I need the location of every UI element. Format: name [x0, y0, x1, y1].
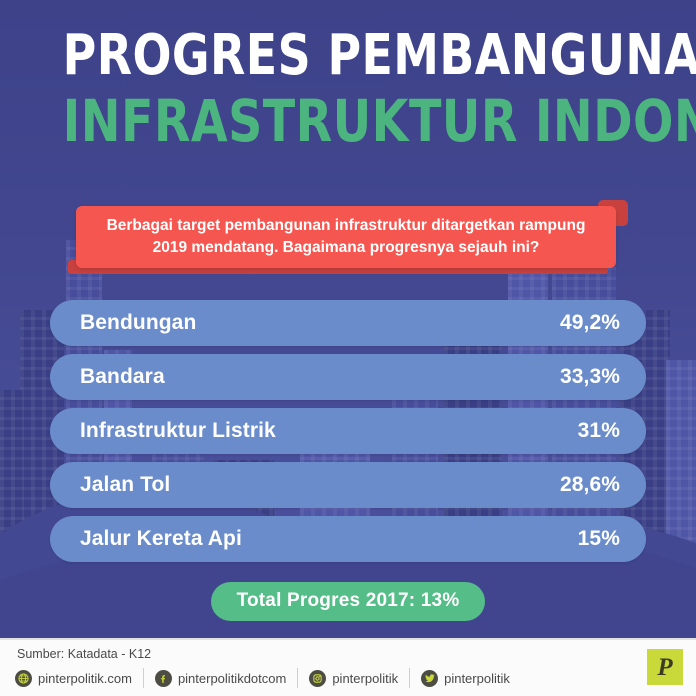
footer-divider [409, 668, 410, 688]
globe-icon [15, 670, 32, 687]
title-line-primary: PROGRES PEMBANGUNAN [63, 28, 634, 84]
social-label: pinterpolitik [332, 671, 398, 686]
brand-logo-letter: P [657, 655, 672, 680]
title-line-secondary: INFRASTRUKTUR INDONESIA [63, 92, 634, 150]
social-link-website[interactable]: pinterpolitik.com [15, 666, 132, 690]
table-row: Jalur Kereta Api 15% [50, 516, 646, 562]
table-row: Jalan Tol 28,6% [50, 462, 646, 508]
row-label: Bandara [80, 365, 165, 389]
row-value: 33,3% [560, 365, 620, 389]
row-value: 15% [578, 527, 620, 551]
source-text: Sumber: Katadata - K12 [17, 647, 151, 661]
twitter-icon [421, 670, 438, 687]
banner-text: Berbagai target pembangunan infrastruktu… [76, 215, 616, 260]
social-link-twitter[interactable]: pinterpolitik [421, 666, 510, 690]
footer-bar: Sumber: Katadata - K12 pinterpolitik.com [0, 638, 696, 696]
total-progress-container: Total Progres 2017: 13% [0, 582, 696, 621]
social-label: pinterpolitik.com [38, 671, 132, 686]
row-label: Jalur Kereta Api [80, 527, 242, 551]
banner-body: Berbagai target pembangunan infrastruktu… [76, 206, 616, 268]
total-progress-badge: Total Progres 2017: 13% [211, 582, 486, 621]
social-label: pinterpolitikdotcom [178, 671, 286, 686]
social-link-instagram[interactable]: pinterpolitik [309, 666, 398, 690]
social-link-facebook[interactable]: pinterpolitikdotcom [155, 666, 286, 690]
progress-list: Bendungan 49,2% Bandara 33,3% Infrastruk… [50, 300, 646, 570]
table-row: Bandara 33,3% [50, 354, 646, 400]
infographic-root: PROGRES PEMBANGUNAN INFRASTRUKTUR INDONE… [0, 0, 696, 696]
row-value: 31% [578, 419, 620, 443]
footer-divider [297, 668, 298, 688]
table-row: Infrastruktur Listrik 31% [50, 408, 646, 454]
row-value: 49,2% [560, 311, 620, 335]
row-label: Bendungan [80, 311, 196, 335]
instagram-icon [309, 670, 326, 687]
row-label: Infrastruktur Listrik [80, 419, 276, 443]
row-value: 28,6% [560, 473, 620, 497]
facebook-icon [155, 670, 172, 687]
intro-banner: Berbagai target pembangunan infrastruktu… [68, 198, 628, 274]
table-row: Bendungan 49,2% [50, 300, 646, 346]
footer-divider [143, 668, 144, 688]
brand-logo[interactable]: P [647, 649, 683, 685]
page-title: PROGRES PEMBANGUNAN INFRASTRUKTUR INDONE… [0, 28, 696, 150]
social-links: pinterpolitik.com pinterpolitikdotcom [15, 666, 510, 690]
social-label: pinterpolitik [444, 671, 510, 686]
row-label: Jalan Tol [80, 473, 170, 497]
